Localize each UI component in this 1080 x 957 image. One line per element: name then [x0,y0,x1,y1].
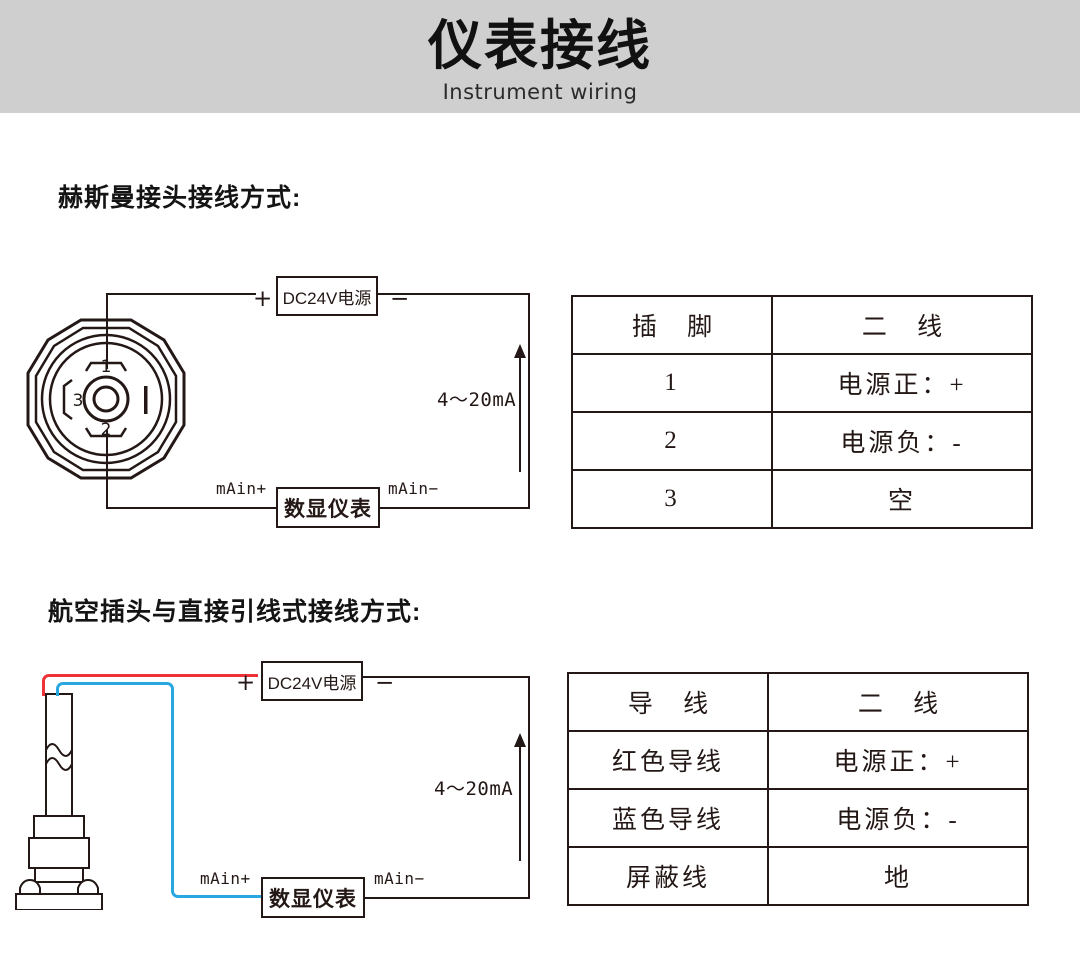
current-arrow-shaft-1 [519,356,521,472]
current-range-label-1: 4～20mA [437,385,516,412]
table-header-cell: 导 线 [568,673,768,731]
digital-meter-label: 数显仪表 [269,883,357,913]
current-arrow-shaft-2 [519,745,521,861]
table-row: 2 电源负：- [572,412,1032,470]
wire-right-vertical-2 [528,676,530,898]
wire-top-rail-right [378,293,530,295]
table-cell-function: 电源正：+ [768,731,1028,789]
table-row: 红色导线 电源正：+ [568,731,1028,789]
wire-top-rail [106,293,256,295]
svg-text:3: 3 [73,391,84,411]
power-supply-box-1: DC24V电源 [276,276,378,316]
power-supply-label: DC24V电源 [283,284,372,309]
table-row: 屏蔽线 地 [568,847,1028,905]
digital-meter-box-1: 数显仪表 [276,487,380,528]
power-plus-sign-1: + [253,286,272,312]
pin-assignment-table: 插 脚 二 线 1 电源正：+ 2 电源负：- 3 空 [571,295,1033,529]
table-cell-wire: 屏蔽线 [568,847,768,905]
table-row: 3 空 [572,470,1032,528]
page-subtitle: Instrument wiring [0,80,1080,104]
table-header-row: 插 脚 二 线 [572,296,1032,354]
section-heading-hirschmann: 赫斯曼接头接线方式: [58,178,301,214]
table-header-cell: 插 脚 [572,296,772,354]
table-header-cell: 二 线 [772,296,1032,354]
wire-bottom-rail-left-1 [106,507,278,509]
table-header-cell: 二 线 [768,673,1028,731]
table-cell-function: 地 [768,847,1028,905]
table-cell-wire: 红色导线 [568,731,768,789]
blue-wire-upper [56,682,174,696]
table-header-row: 导 线 二 线 [568,673,1028,731]
wire-bottom-rail-right-1 [378,507,530,509]
table-cell-pin: 2 [572,412,772,470]
blue-wire-lower [171,693,271,898]
meter-input-positive-1: mAin+ [216,479,267,498]
section-heading-aviation: 航空插头与直接引线式接线方式: [48,592,421,628]
table-cell-function: 电源负：- [768,789,1028,847]
table-row: 蓝色导线 电源负：- [568,789,1028,847]
power-minus-sign-1: − [390,286,409,312]
wire-pin1-vertical [106,293,108,369]
wire-bottom-rail-right-2 [363,897,530,899]
table-cell-wire: 蓝色导线 [568,789,768,847]
power-minus-sign-2: − [375,670,394,696]
power-supply-label: DC24V电源 [268,669,357,694]
power-supply-box-2: DC24V电源 [261,661,363,701]
header-banner: 仪表接线 Instrument wiring [0,0,1080,113]
table-cell-pin: 1 [572,354,772,412]
power-plus-sign-2: + [236,670,255,696]
wire-assignment-table: 导 线 二 线 红色导线 电源正：+ 蓝色导线 电源负：- 屏蔽线 地 [567,672,1029,906]
table-row: 1 电源正：+ [572,354,1032,412]
meter-input-positive-2: mAin+ [200,869,251,888]
table-cell-function: 电源正：+ [772,354,1032,412]
digital-meter-label: 数显仪表 [284,493,372,523]
table-cell-pin: 3 [572,470,772,528]
wire-top-rail-right-2 [363,676,530,678]
current-range-label-2: 4～20mA [434,774,513,801]
digital-meter-box-2: 数显仪表 [261,877,365,918]
meter-input-negative-2: mAin− [374,869,425,888]
table-cell-function: 电源负：- [772,412,1032,470]
cable-sensor-icon [8,660,128,910]
table-cell-function: 空 [772,470,1032,528]
page-title: 仪表接线 [0,18,1080,75]
wire-pin2-vertical [106,430,108,508]
wire-right-vertical-1 [528,293,530,509]
meter-input-negative-1: mAin− [388,479,439,498]
